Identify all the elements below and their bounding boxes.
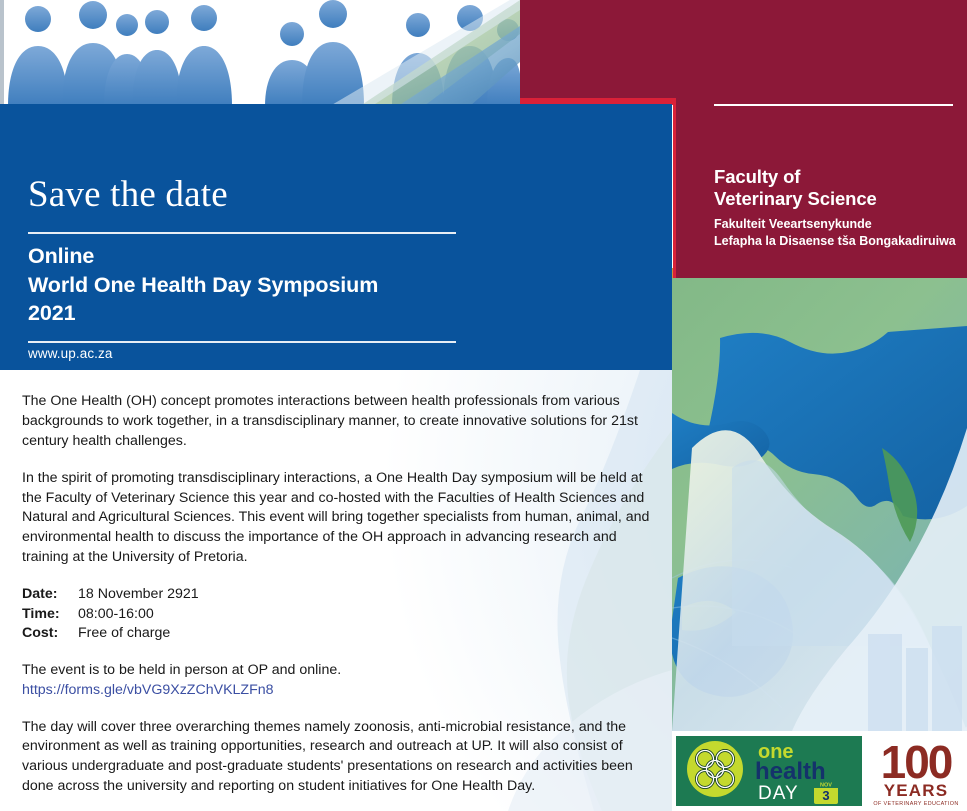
save-the-date-title: Save the date (28, 176, 228, 213)
banner-left-edge (0, 0, 4, 104)
faculty-subtitle-sepedi: Lefapha la Disaense tša Bongakadiruiwa (714, 233, 962, 249)
detail-row-date: Date: 18 November 2921 (22, 585, 654, 605)
svg-text:3: 3 (822, 788, 829, 803)
detail-value-date: 18 November 2921 (78, 585, 654, 605)
svg-text:OF VETERINARY EDUCATION: OF VETERINARY EDUCATION (873, 801, 958, 807)
event-title-block: Online World One Health Day Symposium 20… (28, 242, 378, 328)
footer-logo-strip: one health DAY NOV 3 100 YEARS OF VETERI… (672, 731, 967, 811)
faculty-title: Faculty of Veterinary Science (714, 166, 962, 209)
detail-row-time: Time: 08:00-16:00 (22, 605, 654, 625)
event-details-list: Date: 18 November 2921 Time: 08:00-16:00… (22, 585, 654, 644)
faculty-identity-block: Faculty of Veterinary Science Fakulteit … (714, 166, 962, 249)
venue-statement: The event is to be held in person at OP … (22, 661, 654, 681)
hundred-years-logo: 100 YEARS OF VETERINARY EDUCATION (868, 734, 964, 809)
faculty-subtitle-afrikaans: Fakulteit Veeartsenykunde (714, 216, 962, 232)
detail-value-cost: Free of charge (78, 624, 654, 644)
paragraph-one-health-concept: The One Health (OH) concept promotes int… (22, 392, 654, 452)
save-the-date-panel (0, 104, 672, 370)
poster-page: Faculty of Veterinary Science Fakulteit … (0, 0, 967, 811)
detail-label-cost: Cost: (22, 624, 78, 644)
detail-value-time: 08:00-16:00 (78, 605, 654, 625)
panel-rule-top (28, 232, 456, 234)
faculty-title-line2: Veterinary Science (714, 188, 962, 210)
faculty-divider-rule (714, 104, 953, 106)
paragraph-themes: The day will cover three overarching the… (22, 718, 654, 798)
paragraph-symposium-description: In the spirit of promoting transdiscipli… (22, 469, 654, 568)
content-area: The One Health (OH) concept promotes int… (0, 370, 672, 811)
university-website[interactable]: www.up.ac.za (28, 346, 113, 361)
faculty-subtitle: Fakulteit Veeartsenykunde Lefapha la Dis… (714, 216, 962, 249)
faculty-title-line1: Faculty of (714, 166, 962, 188)
registration-form-link[interactable]: https://forms.gle/vbVG9XzZChVKLZFn8 (22, 681, 654, 701)
detail-row-cost: Cost: Free of charge (22, 624, 654, 644)
people-silhouette-banner (0, 0, 520, 106)
panel-rule-bottom (28, 341, 456, 343)
globe-illustration (672, 278, 967, 731)
one-health-day-logo: one health DAY NOV 3 (676, 736, 862, 806)
svg-text:YEARS: YEARS (884, 781, 949, 800)
svg-text:DAY: DAY (758, 783, 799, 804)
event-year: 2021 (28, 299, 378, 328)
event-name: World One Health Day Symposium (28, 271, 378, 300)
content-text: The One Health (OH) concept promotes int… (22, 392, 654, 797)
detail-label-time: Time: (22, 605, 78, 625)
crimson-right-edge (962, 0, 967, 98)
event-mode: Online (28, 242, 378, 271)
detail-label-date: Date: (22, 585, 78, 605)
